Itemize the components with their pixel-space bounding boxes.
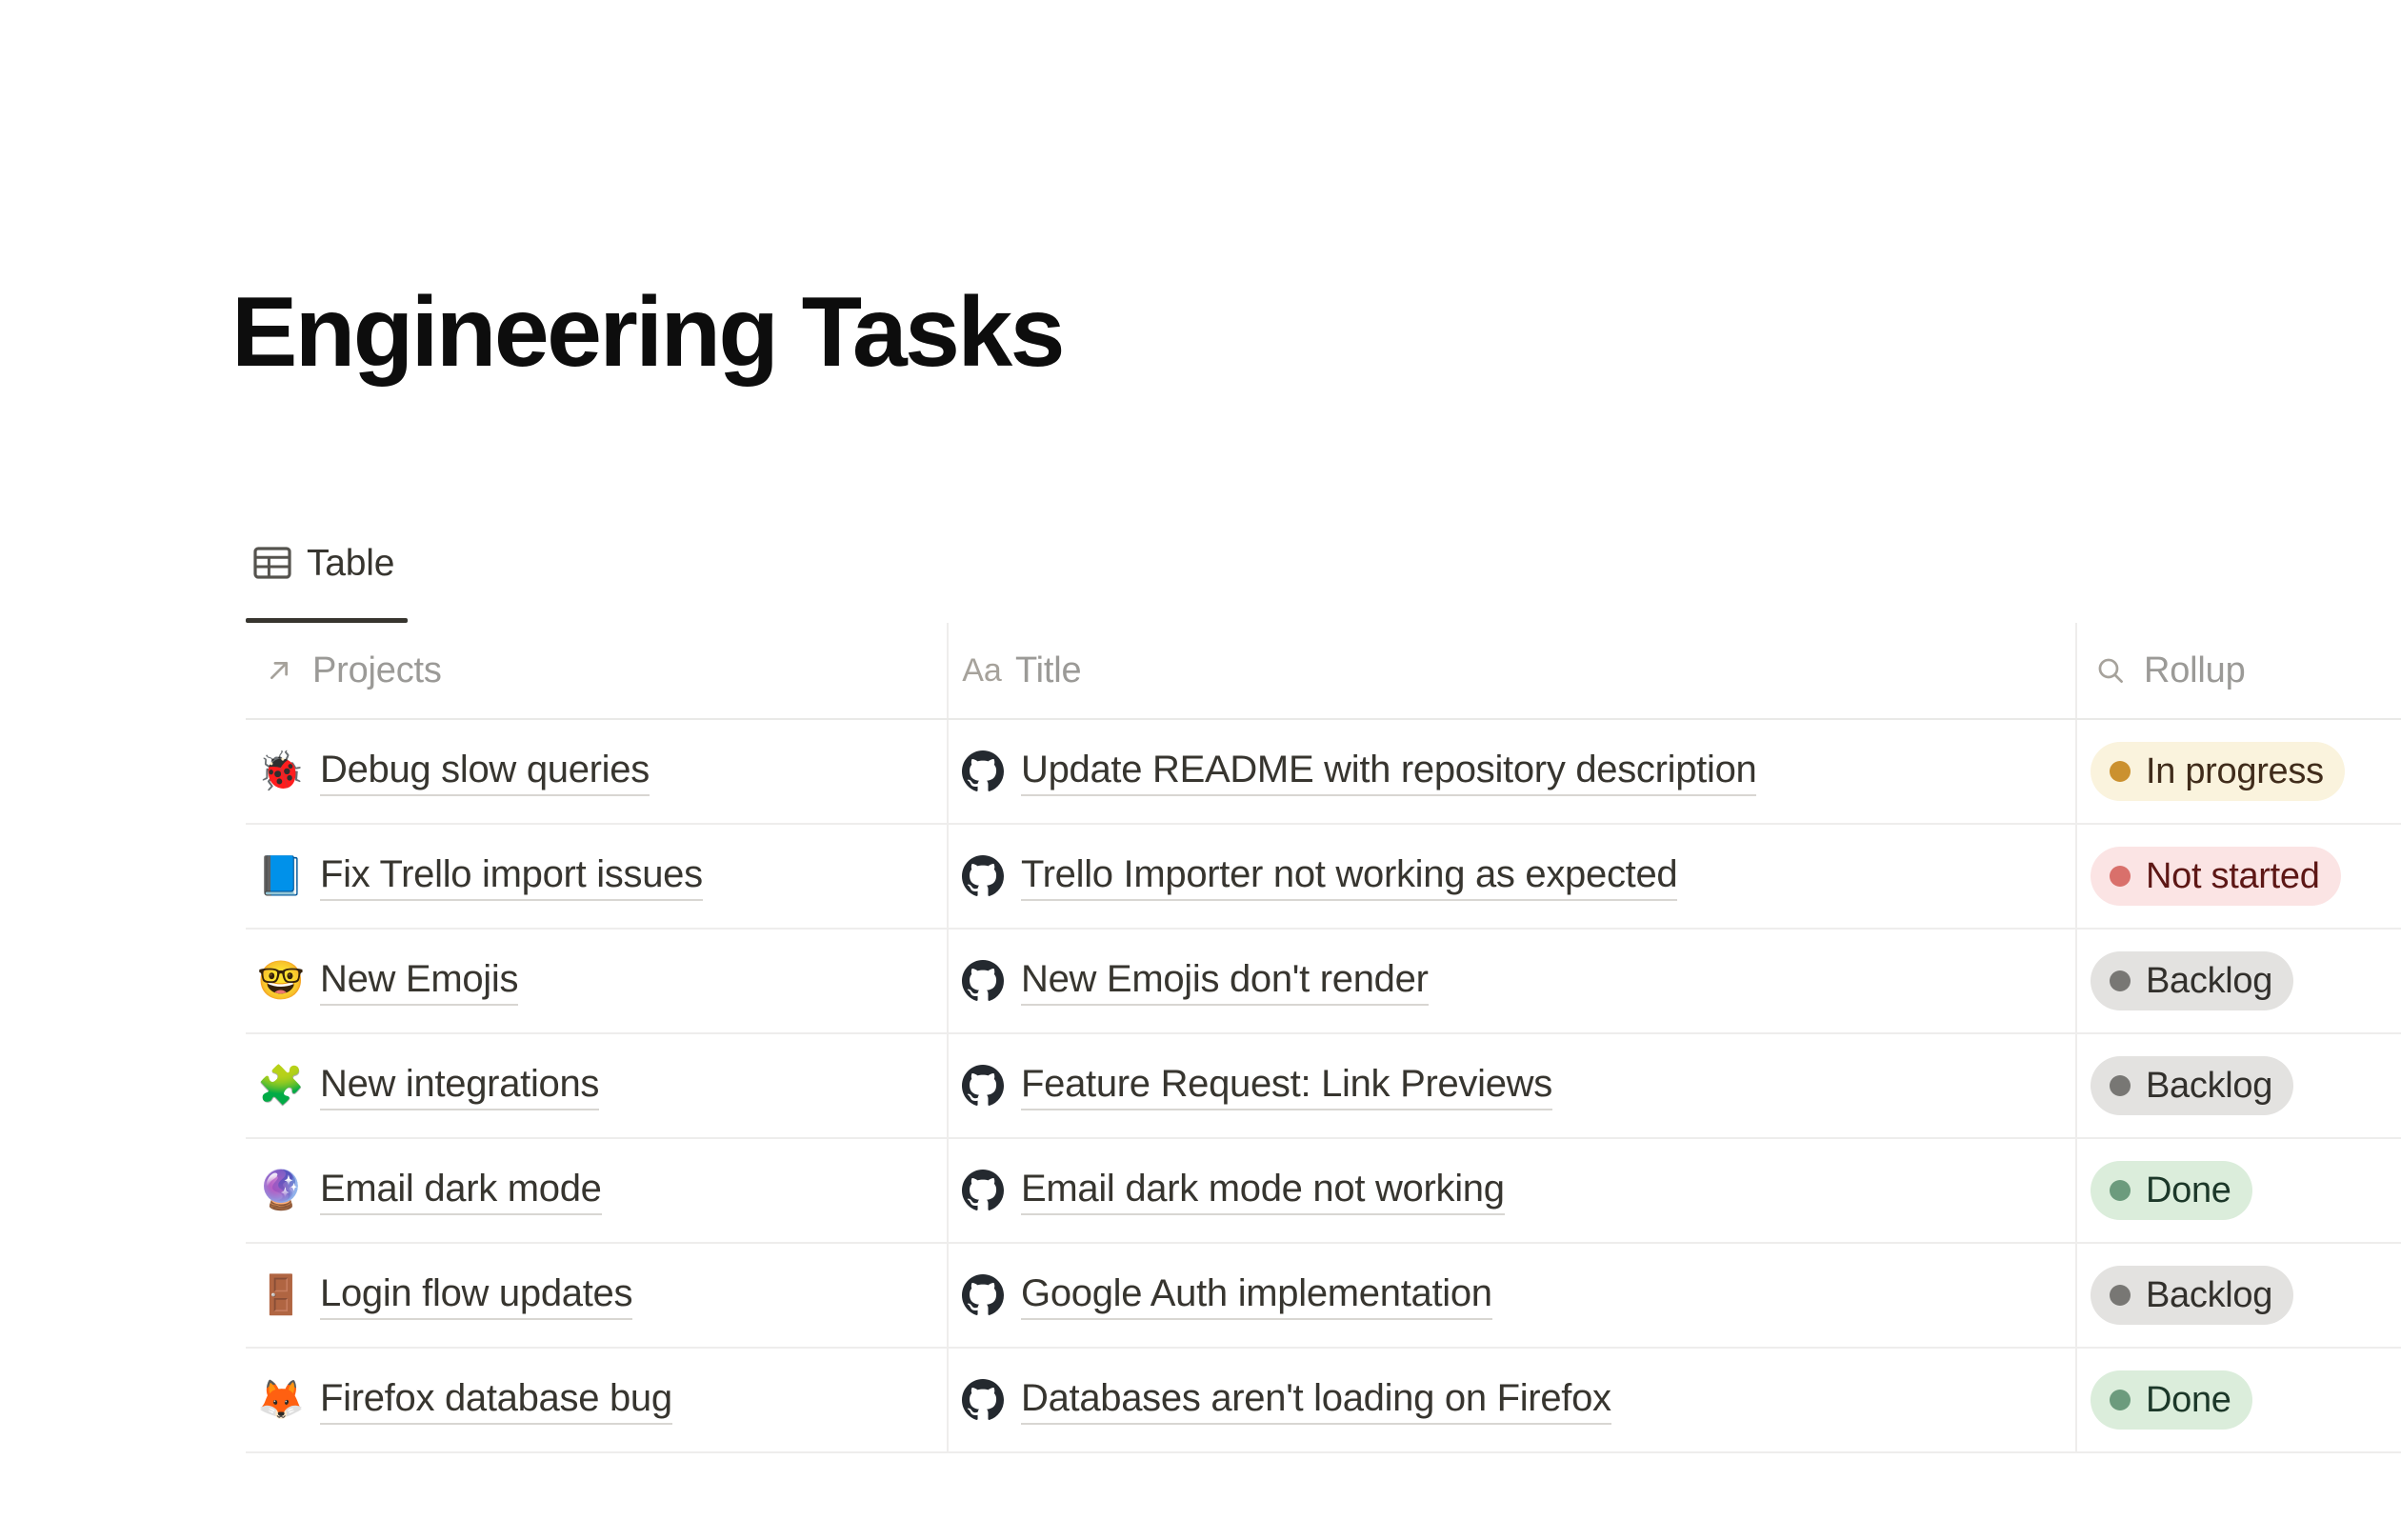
status-dot xyxy=(2110,1075,2131,1096)
cell-title[interactable]: New Emojis don't render xyxy=(948,929,2076,1033)
cell-title[interactable]: Feature Request: Link Previews xyxy=(948,1033,2076,1138)
status-badge: Not started xyxy=(2091,847,2341,906)
status-badge-label: Backlog xyxy=(2146,959,2272,1003)
table-header: Projects Aa Title xyxy=(246,623,2401,719)
cell-projects[interactable]: 🤓 New Emojis xyxy=(246,929,948,1033)
cell-title[interactable]: Trello Importer not working as expected xyxy=(948,824,2076,929)
cell-rollup[interactable]: Done xyxy=(2076,1348,2401,1452)
page-root: Engineering Tasks Table xyxy=(0,0,2401,1540)
issue-title-link[interactable]: Email dark mode not working xyxy=(1021,1167,1505,1215)
status-badge-label: Done xyxy=(2146,1378,2231,1422)
status-dot xyxy=(2110,1180,2131,1201)
issue-title-link[interactable]: Update README with repository descriptio… xyxy=(1021,748,1756,796)
puzzle-piece-emoji: 🧩 xyxy=(259,1067,303,1105)
issue-title-link[interactable]: Databases aren't loading on Firefox xyxy=(1021,1376,1611,1425)
github-icon xyxy=(962,1379,1004,1421)
aa-text-icon: Aa xyxy=(964,652,1000,689)
cell-rollup[interactable]: Backlog xyxy=(2076,929,2401,1033)
door-emoji: 🚪 xyxy=(259,1276,303,1314)
status-badge: In progress xyxy=(2091,742,2345,801)
status-badge-label: Not started xyxy=(2146,854,2320,898)
cell-title[interactable]: Databases aren't loading on Firefox xyxy=(948,1348,2076,1452)
cell-projects[interactable]: 📘 Fix Trello import issues xyxy=(246,824,948,929)
github-icon xyxy=(962,1065,1004,1107)
cell-title[interactable]: Google Auth implementation xyxy=(948,1243,2076,1348)
status-badge: Done xyxy=(2091,1161,2252,1220)
github-icon xyxy=(962,750,1004,792)
column-header-projects-label: Projects xyxy=(312,652,442,689)
status-badge-label: In progress xyxy=(2146,750,2324,793)
lady-beetle-emoji: 🐞 xyxy=(259,752,303,790)
project-relation-link[interactable]: Firefox database bug xyxy=(320,1376,672,1425)
search-magnifier-icon xyxy=(2092,652,2129,689)
cell-projects[interactable]: 🔮 Email dark mode xyxy=(246,1138,948,1243)
column-header-projects[interactable]: Projects xyxy=(246,623,948,719)
table-row: 🚪 Login flow updates Google Auth impleme… xyxy=(246,1243,2401,1348)
issue-title-link[interactable]: Trello Importer not working as expected xyxy=(1021,852,1677,901)
project-relation-link[interactable]: Debug slow queries xyxy=(320,748,650,796)
table-body: 🐞 Debug slow queries Update README with … xyxy=(246,719,2401,1452)
github-icon xyxy=(962,1274,1004,1316)
table-row: 📘 Fix Trello import issues Trello Import… xyxy=(246,824,2401,929)
issue-title-link[interactable]: New Emojis don't render xyxy=(1021,957,1429,1006)
github-icon xyxy=(962,960,1004,1002)
table-row: 🧩 New integrations Feature Request: Link… xyxy=(246,1033,2401,1138)
table-row: 🔮 Email dark mode Email dark mode not wo… xyxy=(246,1138,2401,1243)
column-header-rollup-label: Rollup xyxy=(2144,652,2246,689)
table-row: 🤓 New Emojis New Emojis don't render xyxy=(246,929,2401,1033)
cell-rollup[interactable]: Backlog xyxy=(2076,1243,2401,1348)
project-relation-link[interactable]: Login flow updates xyxy=(320,1271,632,1320)
status-badge: Backlog xyxy=(2091,951,2293,1010)
nerd-face-emoji: 🤓 xyxy=(259,962,303,1000)
project-relation-link[interactable]: Email dark mode xyxy=(320,1167,602,1215)
tab-table[interactable]: Table xyxy=(246,524,408,623)
status-badge: Backlog xyxy=(2091,1266,2293,1325)
github-icon xyxy=(962,855,1004,897)
cell-rollup[interactable]: Backlog xyxy=(2076,1033,2401,1138)
status-dot xyxy=(2110,761,2131,782)
status-dot xyxy=(2110,1390,2131,1410)
status-badge: Backlog xyxy=(2091,1056,2293,1115)
blue-book-emoji: 📘 xyxy=(259,857,303,895)
crystal-ball-emoji: 🔮 xyxy=(259,1171,303,1210)
page-title: Engineering Tasks xyxy=(231,274,1063,391)
project-relation-link[interactable]: Fix Trello import issues xyxy=(320,852,703,901)
cell-projects[interactable]: 🦊 Firefox database bug xyxy=(246,1348,948,1452)
database-table: Projects Aa Title xyxy=(246,623,2401,1453)
column-header-title[interactable]: Aa Title xyxy=(948,623,2076,719)
cell-projects[interactable]: 🐞 Debug slow queries xyxy=(246,719,948,824)
tab-table-label: Table xyxy=(307,545,394,582)
view-tabs-bar: Table xyxy=(246,524,408,623)
status-badge-label: Backlog xyxy=(2146,1064,2272,1108)
fox-emoji: 🦊 xyxy=(259,1381,303,1419)
cell-rollup[interactable]: In progress xyxy=(2076,719,2401,824)
issue-title-link[interactable]: Feature Request: Link Previews xyxy=(1021,1062,1552,1110)
status-dot xyxy=(2110,970,2131,991)
cell-projects[interactable]: 🧩 New integrations xyxy=(246,1033,948,1138)
column-header-rollup[interactable]: Rollup xyxy=(2076,623,2401,719)
status-badge: Done xyxy=(2091,1370,2252,1430)
cell-projects[interactable]: 🚪 Login flow updates xyxy=(246,1243,948,1348)
github-icon xyxy=(962,1170,1004,1211)
status-dot xyxy=(2110,1285,2131,1306)
cell-title[interactable]: Email dark mode not working xyxy=(948,1138,2076,1243)
table-grid-icon xyxy=(253,547,291,579)
table-header-row: Projects Aa Title xyxy=(246,623,2401,719)
cell-rollup[interactable]: Done xyxy=(2076,1138,2401,1243)
table-row: 🦊 Firefox database bug Databases aren't … xyxy=(246,1348,2401,1452)
project-relation-link[interactable]: New Emojis xyxy=(320,957,518,1006)
cell-rollup[interactable]: Not started xyxy=(2076,824,2401,929)
cell-title[interactable]: Update README with repository descriptio… xyxy=(948,719,2076,824)
status-badge-label: Done xyxy=(2146,1169,2231,1212)
status-badge-label: Backlog xyxy=(2146,1273,2272,1317)
table-row: 🐞 Debug slow queries Update README with … xyxy=(246,719,2401,824)
status-dot xyxy=(2110,866,2131,887)
column-header-title-label: Title xyxy=(1015,652,1081,689)
project-relation-link[interactable]: New integrations xyxy=(320,1062,599,1110)
relation-arrow-icon xyxy=(261,652,297,689)
issue-title-link[interactable]: Google Auth implementation xyxy=(1021,1271,1492,1320)
